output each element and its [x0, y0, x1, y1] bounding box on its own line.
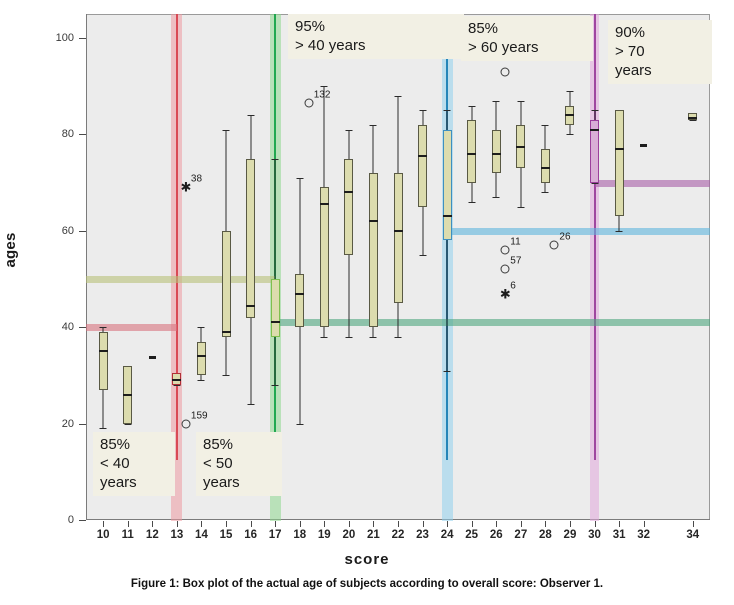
x-tick-label: 13	[170, 529, 183, 541]
whisker-cap-low-22	[395, 337, 402, 338]
note-85-over-60: 85% > 60 years	[461, 16, 593, 61]
whisker-cap-low-10	[100, 428, 107, 429]
x-tick-mark	[447, 521, 448, 527]
whisker-cap-low-11	[124, 424, 131, 425]
whisker-cap-low-34	[689, 120, 696, 121]
median-line-30	[590, 129, 599, 131]
whisker-cap-low-31	[616, 231, 623, 232]
box-plot-25	[467, 0, 476, 520]
box-plot-24	[443, 0, 452, 520]
whisker-cap-low-24	[444, 371, 451, 372]
extreme-marker-26-6: ✱	[500, 287, 511, 300]
x-tick-mark	[423, 521, 424, 527]
box-plot-20	[344, 0, 353, 520]
x-tick-label: 14	[195, 529, 208, 541]
median-line-25	[467, 153, 476, 155]
x-tick-label: 23	[416, 529, 429, 541]
box-21	[369, 173, 378, 327]
median-line-24	[443, 215, 452, 217]
median-line-23	[418, 155, 427, 157]
x-tick-label: 15	[220, 529, 233, 541]
x-tick-mark	[152, 521, 153, 527]
y-tick-mark	[79, 38, 86, 39]
note-95-over-40: 95% > 40 years	[288, 14, 464, 59]
median-line-27	[516, 146, 525, 148]
x-tick-mark	[619, 521, 620, 527]
whisker-cap-high-17	[272, 159, 279, 160]
whisker-cap-low-25	[468, 202, 475, 203]
y-axis-title: ages	[2, 233, 19, 268]
x-tick-mark	[398, 521, 399, 527]
whisker-cap-low-20	[345, 337, 352, 338]
x-tick-mark	[275, 521, 276, 527]
y-tick-mark	[79, 231, 86, 232]
box-10	[99, 332, 108, 390]
x-axis-title: score	[0, 551, 734, 568]
median-line-17	[271, 321, 280, 323]
outlier-marker-26-4	[501, 246, 510, 255]
box-plot-29	[565, 0, 574, 520]
outlier-marker-13-0	[181, 419, 190, 428]
median-line-29	[565, 114, 574, 116]
x-tick-mark	[177, 521, 178, 527]
outlier-label-26-5: 57	[510, 256, 521, 267]
whisker-cap-high-10	[100, 327, 107, 328]
box-19	[320, 187, 329, 327]
x-tick-mark	[472, 521, 473, 527]
median-line-11	[123, 394, 132, 396]
x-tick-label: 32	[637, 529, 650, 541]
whisker-cap-low-18	[296, 424, 303, 425]
outlier-marker-28-7	[550, 241, 559, 250]
x-tick-mark	[300, 521, 301, 527]
y-tick-label: 60	[40, 225, 74, 237]
extreme-marker-13-1: ✱	[180, 181, 191, 194]
box-plot-22	[394, 0, 403, 520]
median-line-26	[492, 153, 501, 155]
x-tick-label: 27	[514, 529, 527, 541]
outlier-label-18-2: 132	[314, 90, 331, 101]
whisker-cap-high-16	[247, 115, 254, 116]
box-plot-23	[418, 0, 427, 520]
whisker-cap-high-21	[370, 125, 377, 126]
whisker-cap-low-28	[542, 192, 549, 193]
figure-root: ages score 020406080100 159✱381321157✱62…	[0, 0, 734, 605]
box-plot-21	[369, 0, 378, 520]
y-tick-mark	[79, 327, 86, 328]
x-tick-label: 28	[539, 529, 552, 541]
outlier-marker-18-2	[304, 99, 313, 108]
x-tick-mark	[521, 521, 522, 527]
outlier-label-28-7: 26	[559, 232, 570, 243]
whisker-cap-low-23	[419, 255, 426, 256]
x-tick-mark	[201, 521, 202, 527]
x-tick-mark	[324, 521, 325, 527]
median-line-19	[320, 203, 329, 205]
whisker-cap-high-28	[542, 125, 549, 126]
x-tick-mark	[226, 521, 227, 527]
whisker-cap-high-15	[223, 130, 230, 131]
box-plot-18	[295, 0, 304, 520]
whisker-cap-high-24	[444, 110, 451, 111]
whisker-cap-high-30	[591, 110, 598, 111]
x-tick-mark	[128, 521, 129, 527]
median-line-22	[394, 230, 403, 232]
y-tick-mark	[79, 520, 86, 521]
whisker-cap-low-29	[566, 134, 573, 135]
whisker-line-17	[275, 159, 276, 385]
whisker-cap-high-29	[566, 91, 573, 92]
figure-caption: Figure 1: Box plot of the actual age of …	[0, 578, 734, 590]
box-31	[615, 110, 624, 216]
box-17	[271, 279, 280, 337]
box-22	[394, 173, 403, 303]
box-plot-26	[492, 0, 501, 520]
x-tick-mark	[570, 521, 571, 527]
x-tick-label: 20	[342, 529, 355, 541]
y-tick-label: 40	[40, 321, 74, 333]
box-plot-28	[541, 0, 550, 520]
whisker-cap-low-13	[173, 385, 180, 386]
x-tick-mark	[496, 521, 497, 527]
single-value-marker-32	[640, 144, 647, 147]
x-tick-label: 29	[564, 529, 577, 541]
box-23	[418, 125, 427, 207]
note-90-over-70: 90% > 70 years	[608, 20, 712, 84]
x-tick-label: 21	[367, 529, 380, 541]
median-line-10	[99, 350, 108, 352]
median-line-34	[688, 117, 697, 119]
hband-age-60	[447, 228, 710, 235]
x-tick-mark	[595, 521, 596, 527]
whisker-cap-low-19	[321, 337, 328, 338]
box-28	[541, 149, 550, 183]
x-tick-label: 34	[686, 529, 699, 541]
x-tick-label: 25	[465, 529, 478, 541]
outlier-marker-26-3	[501, 67, 510, 76]
box-26	[492, 130, 501, 173]
box-18	[295, 274, 304, 327]
whisker-cap-low-15	[223, 375, 230, 376]
median-line-28	[541, 167, 550, 169]
x-tick-mark	[644, 521, 645, 527]
whisker-cap-high-23	[419, 110, 426, 111]
x-tick-label: 18	[293, 529, 306, 541]
x-tick-mark	[103, 521, 104, 527]
whisker-cap-low-17	[272, 385, 279, 386]
whisker-cap-high-25	[468, 106, 475, 107]
median-line-21	[369, 220, 378, 222]
box-16	[246, 159, 255, 318]
median-line-16	[246, 305, 255, 307]
x-tick-label: 22	[392, 529, 405, 541]
median-line-31	[615, 148, 624, 150]
whisker-cap-low-16	[247, 404, 254, 405]
whisker-cap-low-27	[517, 207, 524, 208]
x-tick-mark	[251, 521, 252, 527]
note-85-under-50: 85% < 50 years	[196, 432, 282, 496]
x-tick-label: 17	[269, 529, 282, 541]
y-tick-mark	[79, 134, 86, 135]
plot-frame-right	[709, 14, 710, 519]
whisker-cap-high-18	[296, 178, 303, 179]
y-tick-label: 80	[40, 128, 74, 140]
y-tick-label: 0	[40, 514, 74, 526]
whisker-cap-high-20	[345, 130, 352, 131]
note-85-under-40: 85% < 40 years	[93, 432, 175, 496]
outlier-label-13-0: 159	[191, 410, 208, 421]
whisker-cap-low-26	[493, 197, 500, 198]
x-tick-label: 26	[490, 529, 503, 541]
x-tick-label: 31	[613, 529, 626, 541]
x-tick-mark	[693, 521, 694, 527]
outlier-label-13-1: 38	[191, 174, 202, 185]
x-tick-label: 12	[146, 529, 159, 541]
x-tick-label: 19	[318, 529, 331, 541]
median-line-20	[344, 191, 353, 193]
whisker-cap-high-14	[198, 327, 205, 328]
y-tick-label: 100	[40, 32, 74, 44]
whisker-cap-high-22	[395, 96, 402, 97]
x-tick-label: 24	[441, 529, 454, 541]
x-tick-mark	[373, 521, 374, 527]
outlier-marker-26-5	[501, 265, 510, 274]
single-value-marker-12	[149, 356, 156, 359]
box-14	[197, 342, 206, 376]
y-tick-mark	[79, 424, 86, 425]
x-tick-label: 16	[244, 529, 257, 541]
box-20	[344, 159, 353, 255]
whisker-cap-high-26	[493, 101, 500, 102]
whisker-cap-low-30	[591, 183, 598, 184]
whisker-cap-low-14	[198, 380, 205, 381]
x-tick-mark	[349, 521, 350, 527]
x-tick-label: 11	[122, 529, 134, 541]
median-line-14	[197, 355, 206, 357]
outlier-label-26-4: 11	[510, 237, 520, 248]
whisker-cap-high-27	[517, 101, 524, 102]
box-25	[467, 120, 476, 183]
y-tick-label: 20	[40, 418, 74, 430]
box-15	[222, 231, 231, 337]
whisker-cap-high-19	[321, 86, 328, 87]
median-line-18	[295, 293, 304, 295]
x-tick-label: 30	[588, 529, 601, 541]
median-line-13	[172, 379, 181, 381]
whisker-cap-low-21	[370, 337, 377, 338]
x-tick-mark	[545, 521, 546, 527]
median-line-15	[222, 331, 231, 333]
box-24	[443, 130, 452, 241]
box-plot-30	[590, 0, 599, 520]
outlier-label-26-6: 6	[510, 280, 516, 291]
box-plot-19	[320, 0, 329, 520]
x-tick-label: 10	[97, 529, 110, 541]
